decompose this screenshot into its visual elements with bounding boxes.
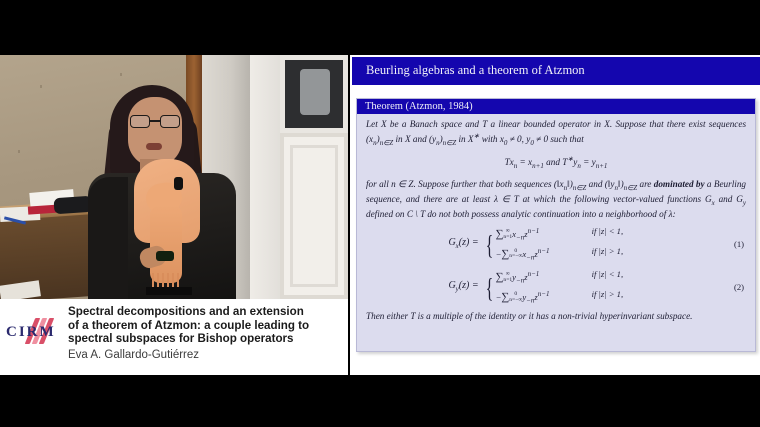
emphasis-dominated-by: dominated by	[654, 179, 705, 189]
txt: and (‖y	[586, 179, 614, 189]
wall-speck	[120, 73, 122, 76]
wall-speck	[40, 85, 42, 88]
sum-symbol: ∑	[501, 247, 509, 259]
wall-speck	[18, 150, 20, 153]
lecture-video-feed[interactable]	[0, 55, 348, 299]
door-column-secondary	[250, 55, 280, 299]
theorem-paragraph-2: for all n ∈ Z. Suppose further that both…	[366, 179, 746, 221]
eq2-case2-expr: −∑0n=−∞y−nzn−1	[496, 288, 592, 308]
eq2-case1-expr: ∑∞n=1y−nzn−1	[496, 268, 592, 288]
sup: n−1	[538, 290, 550, 298]
sum-limits: ∞n=1	[503, 272, 512, 283]
talk-title-card: CIRM Spectral decompositions and an exte…	[0, 299, 348, 375]
speaker-glasses	[130, 115, 180, 128]
theorem-body: Let X be a Banach space and T a linear b…	[357, 114, 755, 351]
txt: = y	[581, 157, 596, 167]
txt: Tx	[505, 157, 514, 167]
sub: y	[743, 199, 746, 207]
speaker-name: Eva A. Gallardo-Gutiérrez	[68, 349, 199, 361]
speaker-face	[128, 97, 182, 167]
eq1-case2-expr: −∑0n=−∞x−nzn−1	[496, 245, 592, 265]
txt: and T	[544, 157, 568, 167]
black-case	[53, 196, 92, 215]
txt: defined on C \ T do not both possess ana…	[366, 209, 676, 219]
txt: (z) =	[459, 280, 479, 291]
theorem-display-equation-1: Gx(z) = { ∑∞n=1x−nzn−1 if |z| < 1, −∑0n=…	[366, 225, 746, 264]
txt: with x	[479, 134, 504, 144]
sub: n∈Z	[380, 138, 394, 146]
talk-title-line-3: spectral subspaces for Bishop operators	[68, 332, 343, 346]
sum-limits: 0n=−∞	[509, 249, 522, 260]
equation-number-1: (1)	[734, 239, 744, 251]
eq2-case2-condition: if |z| > 1,	[592, 288, 664, 308]
sub: n+1	[532, 162, 544, 170]
cirm-logo: CIRM	[6, 315, 64, 349]
sup: n−1	[528, 270, 540, 278]
sum-limits: ∞n=1	[503, 229, 512, 240]
theorem-block: Theorem (Atzmon, 1984) Let X be a Banach…	[356, 98, 756, 352]
talk-title: Spectral decompositions and an extension…	[68, 305, 343, 346]
txt: G	[448, 237, 455, 248]
txt: (z) =	[459, 237, 479, 248]
logo-text: CIRM	[6, 324, 56, 341]
speaker-scarf-fringe	[152, 273, 180, 287]
sum-lower: n=1	[503, 278, 512, 284]
sup: n−1	[538, 247, 550, 255]
presentation-slide[interactable]: Beurling algebras and a theorem of Atzmo…	[350, 55, 760, 375]
txt: and G	[715, 194, 743, 204]
eq1-case-1: ∑∞n=1x−nzn−1 if |z| < 1,	[496, 225, 664, 245]
theorem-paragraph-3: Then either T is a multiple of the ident…	[366, 311, 746, 323]
txt: a linear bounded operator in	[487, 119, 604, 129]
cases-brace-icon: {	[485, 234, 493, 256]
txt: are	[637, 179, 654, 189]
txt: ≠ 0 such that	[534, 134, 584, 144]
speaker-glasses-bridge	[150, 120, 160, 122]
eq1-case1-expr: ∑∞n=1x−nzn−1	[496, 225, 592, 245]
sum-symbol: ∑	[496, 228, 504, 240]
video-player-screen: CIRM Spectral decompositions and an exte…	[0, 0, 760, 427]
cases-brace-icon: {	[485, 277, 493, 299]
eq2-case-1: ∑∞n=1y−nzn−1 if |z| < 1,	[496, 268, 664, 288]
eq2-case-2: −∑0n=−∞y−nzn−1 if |z| > 1,	[496, 288, 664, 308]
sum-limits: 0n=−∞	[509, 292, 522, 303]
speaker-belt	[146, 287, 192, 295]
theorem-display-equation-0: Txn = xn+1 and T∗yn = yn+1	[366, 154, 746, 172]
eq1-case-2: −∑0n=−∞x−nzn−1 if |z| > 1,	[496, 245, 664, 265]
equation-number-2: (2)	[734, 282, 744, 294]
txt: . Suppose that there exist sequences	[610, 119, 746, 129]
sum-lower: n=−∞	[509, 254, 522, 260]
talk-title-line-2: of a theorem of Atzmon: a couple leading…	[68, 319, 343, 333]
theorem-title: Theorem (Atzmon, 1984)	[365, 101, 473, 112]
eq2-cases: ∑∞n=1y−nzn−1 if |z| < 1, −∑0n=−∞y−nzn−1 …	[496, 268, 664, 307]
slide-header-title: Beurling algebras and a theorem of Atzmo…	[366, 63, 585, 78]
eq1-cases: ∑∞n=1x−nzn−1 if |z| < 1, −∑0n=−∞x−nzn−1 …	[496, 225, 664, 264]
theorem-paragraph-1: Let X be a Banach space and T a linear b…	[366, 119, 746, 149]
sup: n−1	[528, 227, 540, 235]
speaker-jacket-shadow	[88, 177, 128, 299]
txt: G	[448, 280, 455, 291]
sum-lower: n=1	[503, 235, 512, 241]
sub: n∈Z	[443, 138, 457, 146]
speaker-microphone	[174, 177, 183, 190]
eq1-case1-condition: if |z| < 1,	[592, 225, 664, 245]
txt: Let	[366, 119, 381, 129]
eq2-lhs: Gy(z) =	[448, 280, 482, 296]
speaker-scarf-tail	[150, 205, 182, 283]
sum-symbol: ∑	[501, 291, 509, 303]
txt: ≠ 0, y	[507, 134, 530, 144]
window-lower-panel	[280, 133, 348, 299]
sub: n+1	[596, 162, 608, 170]
eq2-case1-condition: if |z| < 1,	[592, 268, 664, 288]
theorem-display-equation-2: Gy(z) = { ∑∞n=1y−nzn−1 if |z| < 1, −∑0n=…	[366, 268, 746, 307]
txt: in	[456, 134, 468, 144]
sum-symbol: ∑	[496, 271, 504, 283]
speaker-mouth	[146, 143, 162, 150]
txt: in	[393, 134, 405, 144]
slide-header-bar: Beurling algebras and a theorem of Atzmo…	[352, 57, 760, 85]
eq1-case2-condition: if |z| > 1,	[592, 245, 664, 265]
sub: −n	[516, 234, 524, 242]
txt: for all n ∈ Z. Suppose further that both…	[366, 179, 564, 189]
sub: −n	[516, 277, 524, 285]
theorem-block-header: Theorem (Atzmon, 1984)	[357, 99, 755, 114]
txt: and	[411, 134, 429, 144]
txt: be a Banach space and	[387, 119, 483, 129]
talk-title-line-1: Spectral decompositions and an extension	[68, 305, 343, 319]
window-reflection	[300, 69, 330, 115]
txt: = x	[517, 157, 532, 167]
eq1-lhs: Gx(z) =	[448, 237, 482, 253]
sum-lower: n=−∞	[509, 298, 522, 304]
sub: n∈Z	[624, 183, 638, 191]
presentation-clicker	[156, 251, 174, 261]
sub: n∈Z	[573, 183, 587, 191]
